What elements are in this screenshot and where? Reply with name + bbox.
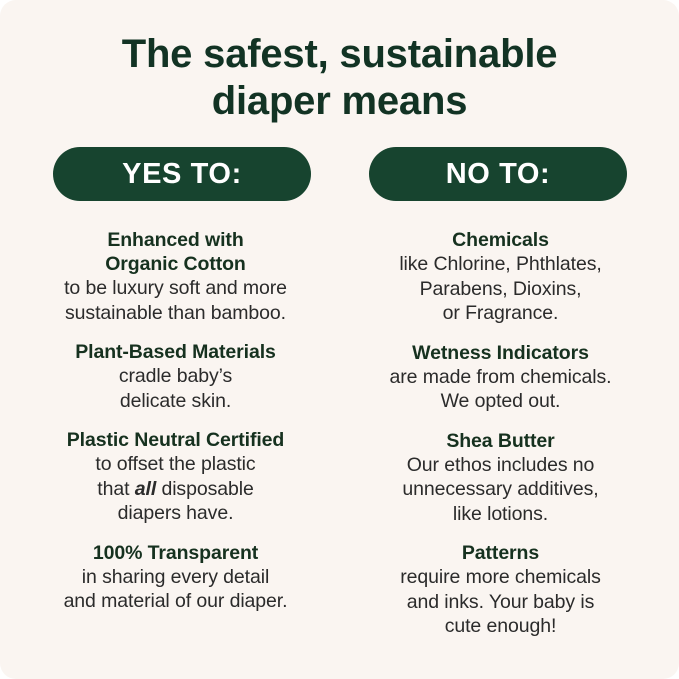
no-to-pill-label: NO TO: (446, 160, 551, 189)
entry-title: Organic Cotton (28, 252, 323, 276)
list-item: Patterns require more chemicals and inks… (353, 541, 648, 639)
no-to-column: Chemicals like Chlorine, Phthlates, Para… (353, 228, 648, 639)
entry-title: Wetness Indicators (353, 341, 648, 365)
list-item: Shea Butter Our ethos includes no unnece… (353, 429, 648, 527)
entry-body: sustainable than bamboo. (28, 301, 323, 326)
page-title: The safest, sustainable diaper means (40, 31, 639, 125)
entry-body: unnecessary additives, (353, 477, 648, 502)
list-item: Plastic Neutral Certified to offset the … (28, 428, 323, 526)
entry-title: Chemicals (353, 228, 648, 252)
entry-body: are made from chemicals. (353, 365, 648, 390)
entry-body-emphasis-line: that all disposable (28, 477, 323, 502)
entry-body: cradle baby’s (28, 364, 323, 389)
page-title-line-2: diaper means (40, 78, 639, 125)
list-item: 100% Transparent in sharing every detail… (28, 541, 323, 614)
entry-body: cute enough! (353, 614, 648, 639)
list-item: Plant-Based Materials cradle baby’s deli… (28, 340, 323, 413)
entry-title: Plant-Based Materials (28, 340, 323, 364)
entry-body: Our ethos includes no (353, 453, 648, 478)
list-item: Chemicals like Chlorine, Phthlates, Para… (353, 228, 648, 326)
entry-body-pre: that (97, 478, 134, 500)
entry-body: or Fragrance. (353, 301, 648, 326)
entry-body: require more chemicals (353, 565, 648, 590)
no-to-pill: NO TO: (369, 147, 627, 201)
entry-body: and material of our diaper. (28, 589, 323, 614)
yes-to-pill: YES TO: (53, 147, 311, 201)
entry-body: diapers have. (28, 501, 323, 526)
entry-title: Plastic Neutral Certified (28, 428, 323, 452)
entry-body: Parabens, Dioxins, (353, 277, 648, 302)
entry-body-post: disposable (156, 478, 254, 500)
entry-body: like Chlorine, Phthlates, (353, 252, 648, 277)
yes-to-column: Enhanced with Organic Cotton to be luxur… (28, 228, 323, 614)
entry-body: in sharing every detail (28, 565, 323, 590)
entry-title: 100% Transparent (28, 541, 323, 565)
entry-title: Shea Butter (353, 429, 648, 453)
entry-title: Enhanced with (28, 228, 323, 252)
list-item: Enhanced with Organic Cotton to be luxur… (28, 228, 323, 325)
entry-body: and inks. Your baby is (353, 590, 648, 615)
entry-title: Patterns (353, 541, 648, 565)
entry-body: to offset the plastic (28, 452, 323, 477)
entry-body: like lotions. (353, 502, 648, 527)
page-title-line-1: The safest, sustainable (40, 31, 639, 78)
list-item: Wetness Indicators are made from chemica… (353, 341, 648, 414)
entry-body-emphasis: all (135, 478, 156, 500)
infographic-card: The safest, sustainable diaper means YES… (0, 0, 679, 679)
entry-body: We opted out. (353, 389, 648, 414)
yes-to-pill-label: YES TO: (122, 160, 242, 189)
entry-body: delicate skin. (28, 389, 323, 414)
entry-body: to be luxury soft and more (28, 276, 323, 301)
